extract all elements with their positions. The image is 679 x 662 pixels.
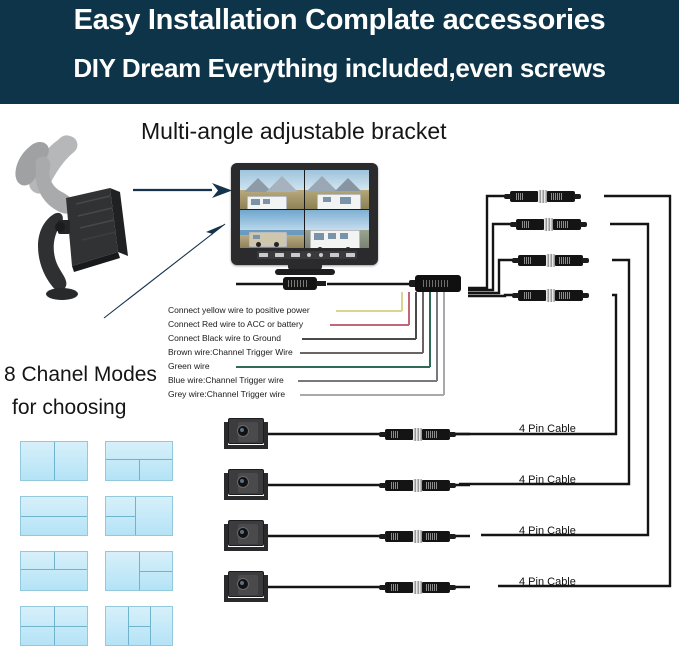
monitor-button-1[interactable]: [259, 253, 268, 257]
cable-label: 4 Pin Cable: [519, 576, 576, 588]
monitor-button-3[interactable]: [291, 253, 300, 257]
channel-trunk-3: [468, 260, 518, 293]
channel-trunk-4: [468, 295, 518, 296]
wire-legend-label: Green wire: [168, 361, 210, 371]
monitor-power-button[interactable]: [346, 253, 355, 257]
extension-run-2: [481, 224, 648, 535]
monitor-button-6[interactable]: [330, 253, 339, 257]
wire-legend-row: Brown wire:Channel Trigger Wire: [168, 345, 368, 359]
quad-split-monitor: [231, 163, 378, 276]
mode-three-column-middle-split[interactable]: [105, 606, 173, 646]
backup-camera-icon: [224, 418, 268, 452]
header-title-line1: Easy Installation Complate accessories: [0, 4, 679, 37]
monitor-button-5[interactable]: [319, 253, 323, 257]
channel-modes-title-line1: 8 Chanel Modes: [4, 363, 157, 387]
wire-legend-label: Connect Black wire to Ground: [168, 333, 281, 343]
wire-legend-row: Blue wire:Channel Trigger wire: [168, 373, 368, 387]
mode-2-horizontal-split[interactable]: [20, 496, 88, 536]
cable-label: 4 Pin Cable: [519, 423, 576, 435]
extension-run-4: [427, 295, 616, 434]
cable-label: 4 Pin Cable: [519, 474, 576, 486]
channel-mode-grid: [20, 441, 175, 648]
backup-camera-icon: [224, 469, 268, 503]
monitor-button-2[interactable]: [275, 253, 284, 257]
bracket-mount-icon: [6, 122, 166, 302]
channel-trunk-2: [468, 224, 516, 290]
camera-feed-3: [240, 210, 304, 249]
wire-legend-row: Connect yellow wire to positive power: [168, 303, 368, 317]
monitor-screen: [240, 170, 369, 248]
cable-label: 4 Pin Cable: [519, 525, 576, 537]
mode-left-full-right-split[interactable]: [105, 551, 173, 591]
mode-quad[interactable]: [20, 606, 88, 646]
product-infographic: Easy Installation Complate accessories D…: [0, 0, 679, 662]
wire-legend-row: Green wire: [168, 359, 368, 373]
backup-camera-icon: [224, 520, 268, 554]
wire-legend-label: Connect yellow wire to positive power: [168, 305, 310, 315]
backup-camera-icon: [224, 571, 268, 605]
wire-legend-row: Connect Red wire to ACC or battery: [168, 317, 368, 331]
wire-legend: Connect yellow wire to positive power Co…: [168, 303, 368, 401]
bracket-section-title: Multi-angle adjustable bracket: [141, 118, 447, 145]
wire-legend-label: Connect Red wire to ACC or battery: [168, 319, 303, 329]
mode-top-full-bottom-split[interactable]: [105, 441, 173, 481]
mode-top-split-bottom-full[interactable]: [20, 551, 88, 591]
wire-legend-label: Grey wire:Channel Trigger wire: [168, 389, 285, 399]
wire-legend-row: Grey wire:Channel Trigger wire: [168, 387, 368, 401]
mode-left-split-right-full[interactable]: [105, 496, 173, 536]
wire-legend-label: Brown wire:Channel Trigger Wire: [168, 347, 293, 357]
monitor-video-plug: [283, 277, 327, 290]
camera-feed-4: [305, 210, 369, 249]
wire-legend-row: Connect Black wire to Ground: [168, 331, 368, 345]
monitor-bezel: [231, 163, 378, 265]
wire-legend-label: Blue wire:Channel Trigger wire: [168, 375, 284, 385]
mode-2-vertical-split[interactable]: [20, 441, 88, 481]
channel-modes-title-line2: for choosing: [12, 396, 126, 420]
power-harness-connector-icon: [409, 275, 469, 292]
camera-feed-2: [305, 170, 369, 209]
monitor-button-4[interactable]: [307, 253, 311, 257]
header-title-line2: DIY Dream Everything included,even screw…: [0, 53, 679, 84]
monitor-control-buttons[interactable]: [257, 251, 357, 259]
monitor-stand-base: [275, 269, 335, 275]
header-banner: Easy Installation Complate accessories D…: [0, 0, 679, 104]
channel-trunk-1: [468, 196, 510, 288]
camera-feed-1: [240, 170, 304, 209]
